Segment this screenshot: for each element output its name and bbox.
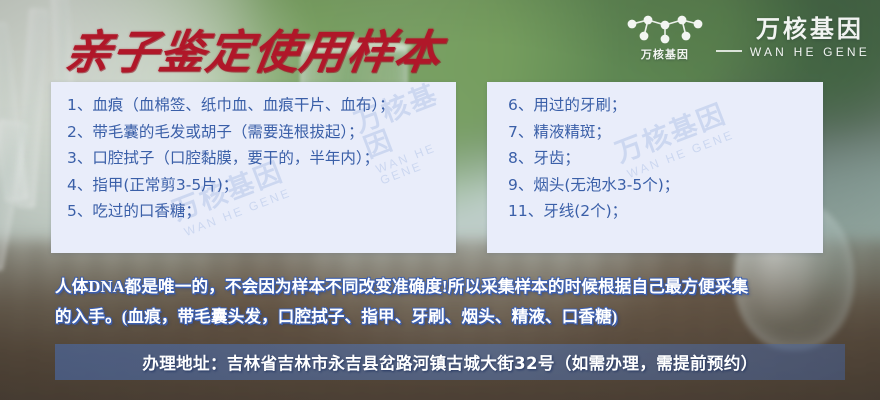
list-item: 2、带毛囊的毛发或胡子（需要连根拔起）； <box>51 119 456 146</box>
brand-logo: 万核基因 万核基因 WAN HE GENE <box>622 14 870 62</box>
samples-panel-right: 万核基因 WAN HE GENE 6、用过的牙刷； 7、精液精斑； 8、牙齿； … <box>487 82 823 253</box>
logo-mark-label: 万核基因 <box>622 46 708 62</box>
note-paragraph: 人体DNA都是唯一的，不会因为样本不同改变准确度!所以采集样本的时候根据自己最方… <box>55 272 845 332</box>
brand-name-en: WAN HE GENE <box>750 46 870 58</box>
sample-list-right: 6、用过的牙刷； 7、精液精斑； 8、牙齿； 9、烟头(无泡水3-5个)； 11… <box>487 82 823 225</box>
molecule-icon: 万核基因 <box>622 15 708 61</box>
page-title: 亲子鉴定使用样本 <box>61 16 447 82</box>
list-item: 1、血痕（血棉签、纸巾血、血痕干片、血布）； <box>51 92 456 119</box>
address-text: 办理地址：吉林省吉林市永吉县岔路河镇古城大街32号（如需办理，需提前预约） <box>55 350 845 374</box>
note-line-2: 的入手。(血痕，带毛囊头发，口腔拭子、指甲、牙刷、烟头、精液、口香糖) <box>55 302 845 332</box>
brand-wordmark: 万核基因 WAN HE GENE <box>750 18 870 58</box>
list-item: 7、精液精斑； <box>487 119 823 146</box>
list-item: 3、口腔拭子（口腔黏膜，要干的，半年内）； <box>51 145 456 172</box>
note-line-1: 人体DNA都是唯一的，不会因为样本不同改变准确度!所以采集样本的时候根据自己最方… <box>55 272 845 302</box>
brand-name-cn: 万核基因 <box>756 18 864 42</box>
logo-divider <box>716 50 742 52</box>
list-item: 5、吃过的口香糖； <box>51 198 456 225</box>
list-item: 4、指甲(正常剪3-5片)； <box>51 172 456 199</box>
list-item: 8、牙齿； <box>487 145 823 172</box>
address-band: 办理地址：吉林省吉林市永吉县岔路河镇古城大街32号（如需办理，需提前预约） <box>55 344 845 380</box>
list-item: 11、牙线(2个)； <box>487 198 823 225</box>
list-item: 6、用过的牙刷； <box>487 92 823 119</box>
list-item: 9、烟头(无泡水3-5个)； <box>487 172 823 199</box>
sample-list-left: 1、血痕（血棉签、纸巾血、血痕干片、血布）； 2、带毛囊的毛发或胡子（需要连根拔… <box>51 82 456 225</box>
poster-root: 万核基因 万核基因 WAN HE GENE 亲子鉴定使用样本 万核基因 WAN … <box>0 0 880 400</box>
samples-panel-left: 万核基因 WAN HE GENE 万核基因 WAN HE GENE 1、血痕（血… <box>51 82 456 253</box>
